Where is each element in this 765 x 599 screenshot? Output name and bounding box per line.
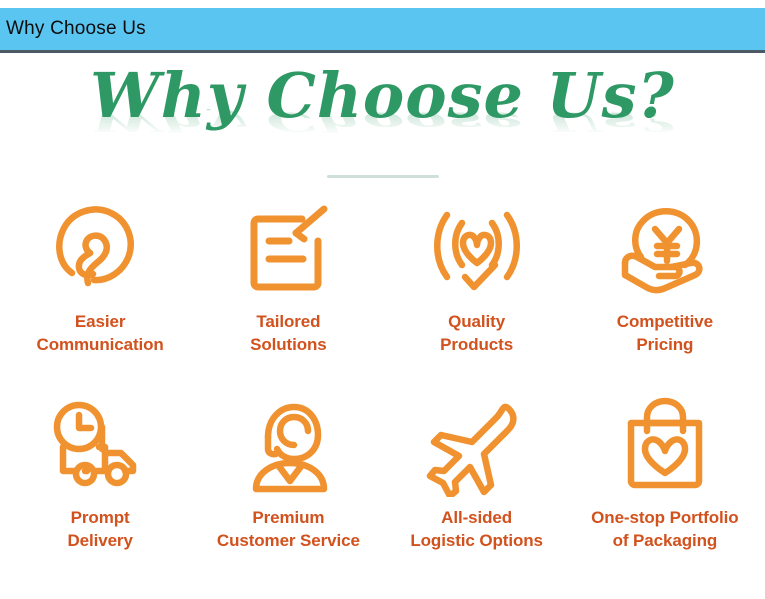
hero-banner: Why Choose Us? Why Choose Us? — [0, 53, 765, 165]
feature-label: One-stop Portfolio of Packaging — [591, 507, 738, 553]
feature-label: All-sided Logistic Options — [410, 507, 543, 553]
window-header-bar: Why Choose Us — [0, 8, 765, 53]
truck-clock-icon — [45, 387, 155, 507]
feature-item-tailored-solutions[interactable]: Tailored Solutions — [194, 191, 382, 387]
hand-yen-coin-icon — [613, 191, 717, 311]
page-title: Why Choose Us? — [0, 53, 765, 127]
headset-agent-icon — [238, 387, 338, 507]
shopping-bag-heart-icon — [615, 387, 715, 507]
feature-label: Quality Products — [440, 311, 513, 357]
document-pencil-icon — [238, 191, 338, 311]
title-divider — [327, 175, 439, 178]
feature-item-quality-products[interactable]: Quality Products — [383, 191, 571, 387]
heart-waves-check-icon — [425, 191, 529, 311]
features-grid: Easier Communication Tailored Solutions — [0, 191, 765, 577]
airplane-icon — [425, 387, 529, 507]
feature-item-premium-customer-service[interactable]: Premium Customer Service — [194, 387, 382, 577]
feature-label: Easier Communication — [37, 311, 164, 357]
feature-label: Tailored Solutions — [250, 311, 327, 357]
feature-item-one-stop-portfolio-of-packaging[interactable]: One-stop Portfolio of Packaging — [571, 387, 759, 577]
feature-item-easier-communication[interactable]: Easier Communication — [6, 191, 194, 387]
window-top-spacer — [0, 0, 765, 8]
feature-label: Premium Customer Service — [217, 507, 360, 553]
feature-item-competitive-pricing[interactable]: Competitive Pricing — [571, 191, 759, 387]
title-divider-wrap — [0, 165, 765, 191]
feature-label: Competitive Pricing — [617, 311, 713, 357]
feature-label: Prompt Delivery — [67, 507, 132, 553]
feature-item-all-sided-logistic-options[interactable]: All-sided Logistic Options — [383, 387, 571, 577]
feature-item-prompt-delivery[interactable]: Prompt Delivery — [6, 387, 194, 577]
window-title: Why Choose Us — [6, 18, 146, 40]
ear-listening-icon — [52, 191, 148, 311]
